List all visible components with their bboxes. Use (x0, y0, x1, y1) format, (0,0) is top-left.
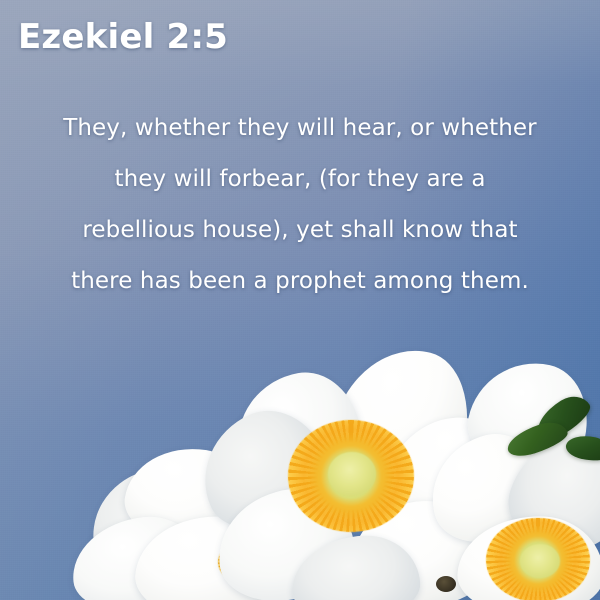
verse-reference-title: Ezekiel 2:5 (18, 17, 228, 57)
verse-line-1: They, whether they will hear, or whether (34, 103, 566, 154)
verse-body-text: They, whether they will hear, or whether… (34, 103, 566, 307)
flower-right-stamen-core (520, 544, 560, 578)
seed-pod-dark (436, 576, 456, 592)
flower-cluster (0, 340, 600, 600)
verse-line-2: they will forbear, (for they are a (34, 154, 566, 205)
verse-line-3: rebellious house), yet shall know that (34, 205, 566, 256)
flower-center-stamen-core (328, 452, 376, 496)
verse-line-4: there has been a prophet among them. (34, 256, 566, 307)
verse-image-canvas: Ezekiel 2:5 They, whether they will hear… (0, 0, 600, 600)
